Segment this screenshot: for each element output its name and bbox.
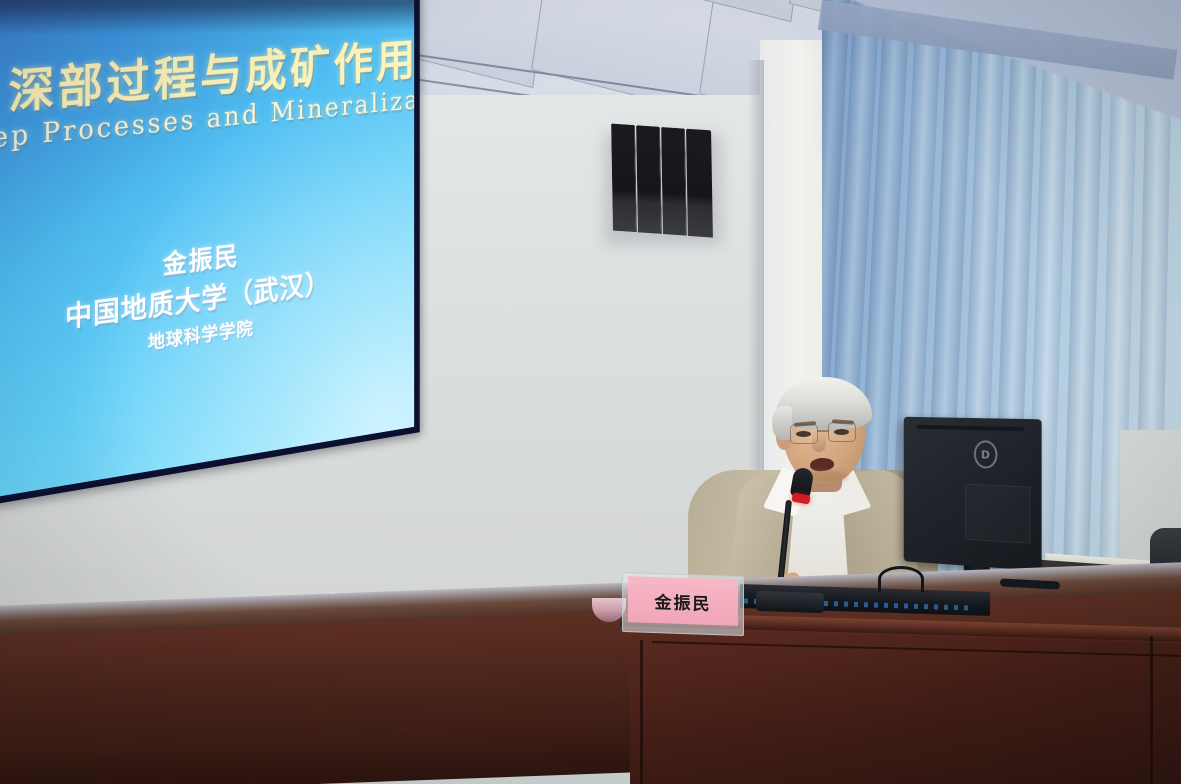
monitor-vesa-plate xyxy=(965,484,1030,544)
name-plate: 金振民 xyxy=(628,576,738,632)
nose xyxy=(812,432,826,452)
microphone-base xyxy=(756,591,824,613)
name-plate-card: 金振民 xyxy=(628,576,738,626)
hair-sideburn xyxy=(772,406,792,440)
screen-border: 深部过程与成矿作用 Deep Processes and Mineralizat… xyxy=(0,0,420,510)
desk-seam-vertical xyxy=(640,640,643,784)
dell-logo-icon: D xyxy=(974,440,998,469)
monitor-vent xyxy=(917,425,1024,431)
cable-loop xyxy=(878,566,924,592)
wall-speaker-icon xyxy=(611,123,713,237)
dell-monitor: D xyxy=(904,417,1042,571)
presentation-slide: 深部过程与成矿作用 Deep Processes and Mineralizat… xyxy=(0,0,414,502)
photo-scene: 深部过程与成矿作用 Deep Processes and Mineralizat… xyxy=(0,0,1181,784)
desk-edge-right xyxy=(1150,636,1153,784)
desk-front-panel-right xyxy=(630,628,1181,784)
name-plate-text: 金振民 xyxy=(655,588,712,615)
glasses-lens-right xyxy=(828,422,856,442)
projection-screen: 深部过程与成矿作用 Deep Processes and Mineralizat… xyxy=(0,0,420,510)
